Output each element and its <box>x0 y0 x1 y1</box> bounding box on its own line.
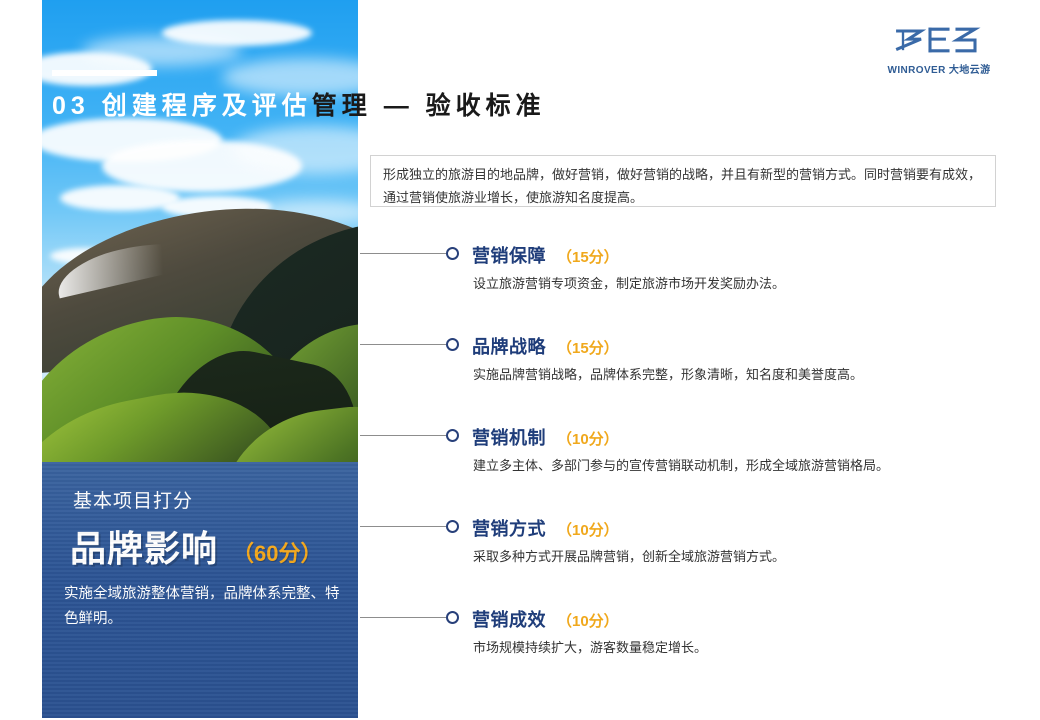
page-title-part-1: 03 创建程序及评估 <box>52 92 312 120</box>
panel-title-row: 品牌影响 （60分） <box>70 520 323 572</box>
list-item[interactable]: 营销成效 （10分） 市场规模持续扩大，游客数量稳定增长。 <box>360 600 1000 691</box>
panel-description: 实施全域旅游整体营销，品牌体系完整、特色鲜明。 <box>64 582 346 632</box>
bullet-circle-icon <box>446 429 459 442</box>
panel-score-badge: （60分） <box>232 536 322 568</box>
list-item-score: （10分） <box>557 519 619 540</box>
list-item-description: 实施品牌营销战略，品牌体系完整，形象清晰，知名度和美誉度高。 <box>473 365 993 385</box>
logo-wordmark: WINROVER 大地云游 <box>880 61 998 76</box>
connector-line <box>360 526 446 527</box>
list-item-head: 营销机制 （10分） <box>472 424 619 450</box>
list-item-head: 营销方式 （10分） <box>472 515 619 541</box>
list-item-description: 设立旅游营销专项资金，制定旅游市场开发奖励办法。 <box>473 274 993 294</box>
list-item[interactable]: 营销保障 （15分） 设立旅游营销专项资金，制定旅游市场开发奖励办法。 <box>360 236 1000 327</box>
list-item-title: 营销成效 <box>472 606 546 632</box>
list-item-title: 营销保障 <box>472 242 546 268</box>
intro-description-text: 形成独立的旅游目的地品牌，做好营销，做好营销的战略，并且有新型的营销方式。同时营… <box>383 163 983 209</box>
bullet-circle-icon <box>446 520 459 533</box>
list-item[interactable]: 品牌战略 （15分） 实施品牌营销战略，品牌体系完整，形象清晰，知名度和美誉度高… <box>360 327 1000 418</box>
connector-line <box>360 253 446 254</box>
list-item-title: 营销机制 <box>472 424 546 450</box>
winrover-logo-mark-icon <box>885 22 993 58</box>
panel-subtitle: 基本项目打分 <box>73 486 193 513</box>
list-item-score: （15分） <box>557 246 619 267</box>
list-item-description: 市场规模持续扩大，游客数量稳定增长。 <box>473 638 993 658</box>
list-item-score: （15分） <box>557 337 619 358</box>
cloud-shape <box>162 20 312 46</box>
connector-line <box>360 435 446 436</box>
bullet-circle-icon <box>446 611 459 624</box>
connector-line <box>360 344 446 345</box>
list-item-description: 建立多主体、多部门参与的宣传营销联动机制，形成全域旅游营销格局。 <box>473 456 993 476</box>
panel-title: 品牌影响 <box>70 520 218 572</box>
list-item-head: 品牌战略 （15分） <box>472 333 619 359</box>
brand-logo: WINROVER 大地云游 <box>880 22 998 76</box>
bullet-circle-icon <box>446 338 459 351</box>
list-item-score: （10分） <box>557 428 619 449</box>
list-item-description: 采取多种方式开展品牌营销，创新全域旅游营销方式。 <box>473 547 993 567</box>
panel-summary-block: 基本项目打分 品牌影响 （60分） 实施全域旅游整体营销，品牌体系完整、特色鲜明… <box>42 462 358 718</box>
list-item-head: 营销成效 （10分） <box>472 606 619 632</box>
title-accent-bar <box>52 70 157 76</box>
page-title: 03 创建程序及评估管理 — 验收标准 <box>52 86 546 122</box>
intro-description-box: 形成独立的旅游目的地品牌，做好营销，做好营销的战略，并且有新型的营销方式。同时营… <box>370 155 996 207</box>
list-item[interactable]: 营销方式 （10分） 采取多种方式开展品牌营销，创新全域旅游营销方式。 <box>360 509 1000 600</box>
list-item-score: （10分） <box>557 610 619 631</box>
list-item[interactable]: 营销机制 （10分） 建立多主体、多部门参与的宣传营销联动机制，形成全域旅游营销… <box>360 418 1000 509</box>
list-item-head: 营销保障 （15分） <box>472 242 619 268</box>
list-item-title: 营销方式 <box>472 515 546 541</box>
criteria-list: 营销保障 （15分） 设立旅游营销专项资金，制定旅游市场开发奖励办法。 品牌战略… <box>360 236 1000 691</box>
page-title-part-2: 管理 — 验收标准 <box>312 92 546 120</box>
connector-line <box>360 617 446 618</box>
list-item-title: 品牌战略 <box>472 333 546 359</box>
bullet-circle-icon <box>446 247 459 260</box>
